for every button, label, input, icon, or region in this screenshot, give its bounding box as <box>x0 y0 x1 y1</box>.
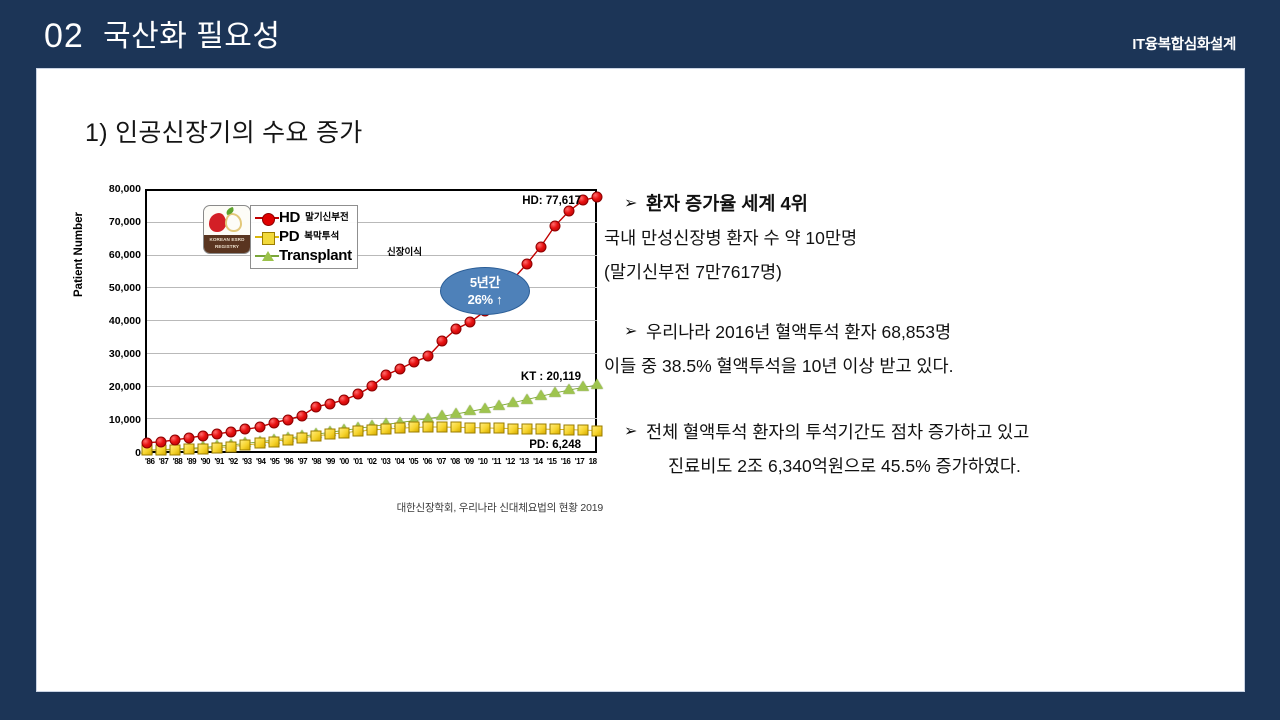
x-tick-label: '16 <box>561 457 571 471</box>
pd-marker <box>296 432 307 443</box>
pd-marker <box>212 442 223 453</box>
y-tick-label: 0 <box>85 447 141 459</box>
chart-source-caption: 대한신장학회, 우리나라 신대체요법의 현황 2019 <box>397 500 603 515</box>
pd-marker <box>479 422 490 433</box>
slide-body-panel: 1) 인공신장기의 수요 증가 Patient Number 80,000 70… <box>36 68 1245 692</box>
x-tick-label: '86 <box>145 457 155 471</box>
hd-marker <box>437 336 448 347</box>
y-tick-label: 60,000 <box>85 249 141 261</box>
bullet-subline-2-1: 이들 중 38.5% 혈액투석을 10년 이상 받고 있다. <box>602 349 1222 383</box>
y-tick-label: 50,000 <box>85 282 141 294</box>
hd-marker <box>521 258 532 269</box>
pd-marker <box>409 422 420 433</box>
x-tick-label: '90 <box>201 457 211 471</box>
x-tick-label: '14 <box>533 457 543 471</box>
bullet-headline-text-3: 전체 혈액투석 환자의 투석기간도 점차 증가하고 있고 <box>646 415 1029 449</box>
x-tick-label: '98 <box>312 457 322 471</box>
bullet-group-3: ➢ 전체 혈액투석 환자의 투석기간도 점차 증가하고 있고 진료비도 2조 6… <box>602 415 1222 483</box>
transplant-marker <box>493 400 505 410</box>
hd-marker <box>142 437 153 448</box>
x-tick-label: '95 <box>270 457 280 471</box>
korean-esrd-registry-logo: KOREAN ESRD REGISTRY <box>203 205 251 254</box>
pd-marker <box>395 423 406 434</box>
pd-marker <box>198 443 209 454</box>
transplant-marker <box>436 410 448 420</box>
legend-label-hd-ko: 말기신부전 <box>305 209 349 223</box>
kt-end-label: KT : 20,119 <box>521 371 581 383</box>
hd-marker <box>296 410 307 421</box>
hd-marker <box>338 394 349 405</box>
legend-item-transplant: Transplant <box>255 246 352 265</box>
legend-label-transplant-ko: 신장이식 <box>387 244 422 258</box>
legend-item-hd: HD 말기신부전 <box>255 208 352 227</box>
pd-marker <box>521 423 532 434</box>
growth-callout-line2: 26% ↑ <box>441 291 529 308</box>
pd-marker <box>310 430 321 441</box>
pd-marker <box>226 441 237 452</box>
legend-item-pd: PD 복막투석 <box>255 227 352 246</box>
bullet-subline-1-1: 국내 만성신장병 환자 수 약 10만명 <box>602 221 1222 255</box>
transplant-marker <box>591 379 603 389</box>
x-tick-label: '87 <box>159 457 169 471</box>
legend-marker-circle-icon <box>255 211 279 225</box>
hd-marker <box>549 221 560 232</box>
hd-end-label: HD: 77,617 <box>522 195 581 207</box>
legend-marker-square-icon <box>255 230 279 244</box>
legend-marker-triangle-icon <box>255 249 279 263</box>
hd-marker <box>395 363 406 374</box>
hd-marker <box>156 436 167 447</box>
transplant-marker <box>521 393 533 403</box>
legend-label-pd-ko: 복막투석 <box>304 228 339 242</box>
chart-y-axis-ticks: 80,000 70,000 60,000 50,000 40,000 30,00… <box>83 189 141 453</box>
pd-marker <box>549 424 560 435</box>
esrd-patient-number-chart: Patient Number 80,000 70,000 60,000 50,0… <box>79 179 609 489</box>
transplant-marker <box>535 390 547 400</box>
x-tick-label: '93 <box>242 457 252 471</box>
transplant-marker <box>507 397 519 407</box>
hd-marker <box>282 414 293 425</box>
x-tick-label: '05 <box>409 457 419 471</box>
bullet-headline-text-2: 우리나라 2016년 혈액투석 환자 68,853명 <box>646 315 951 349</box>
x-tick-label: '92 <box>228 457 238 471</box>
x-tick-label: '11 <box>492 457 501 471</box>
hd-marker <box>352 389 363 400</box>
pd-marker <box>338 427 349 438</box>
bullet-headline-text-1: 환자 증가율 세계 4위 <box>646 187 808 221</box>
bullet-headline-2: ➢ 우리나라 2016년 혈액투석 환자 68,853명 <box>602 315 1222 349</box>
chart-container: Patient Number 80,000 70,000 60,000 50,0… <box>79 179 609 519</box>
pd-marker <box>423 421 434 432</box>
y-tick-label: 80,000 <box>85 183 141 195</box>
x-tick-label: '96 <box>284 457 294 471</box>
header-course-label: IT융복합심화설계 <box>1132 36 1236 54</box>
hd-marker <box>563 206 574 217</box>
logo-caption: KOREAN ESRD REGISTRY <box>204 235 250 253</box>
pd-marker <box>254 438 265 449</box>
x-tick-label: '03 <box>381 457 391 471</box>
slide-root: 02 국산화 필요성 IT융복합심화설계 1) 인공신장기의 수요 증가 Pat… <box>0 0 1280 720</box>
pd-marker <box>451 422 462 433</box>
hd-marker <box>451 323 462 334</box>
hd-marker <box>409 356 420 367</box>
x-tick-label: '09 <box>464 457 474 471</box>
x-tick-label: '97 <box>298 457 308 471</box>
chart-x-axis-ticks: '86'87'88'89'90'91'92'93'94'95'96'97'98'… <box>145 457 597 471</box>
pd-marker <box>465 422 476 433</box>
x-tick-label: '99 <box>325 457 335 471</box>
legend-label-pd: PD <box>279 229 299 244</box>
arrow-bullet-icon: ➢ <box>602 415 646 449</box>
header-title: 국산화 필요성 <box>103 18 280 56</box>
hd-marker <box>268 417 279 428</box>
pd-marker <box>170 444 181 455</box>
pd-marker <box>352 426 363 437</box>
transplant-marker <box>479 403 491 413</box>
y-tick-label: 30,000 <box>85 348 141 360</box>
transplant-marker <box>464 405 476 415</box>
x-tick-label: '08 <box>450 457 460 471</box>
growth-callout: 5년간 26% ↑ <box>440 267 530 315</box>
x-tick-label: '15 <box>547 457 557 471</box>
transplant-marker <box>549 387 561 397</box>
y-tick-label: 20,000 <box>85 381 141 393</box>
page-title: 1) 인공신장기의 수요 증가 <box>85 113 363 149</box>
transplant-marker <box>450 408 462 418</box>
logo-caption-line2: REGISTRY <box>204 243 250 250</box>
hd-marker <box>212 428 223 439</box>
x-tick-label: '88 <box>173 457 183 471</box>
slide-header: 02 국산화 필요성 IT융복합심화설계 <box>0 0 1280 68</box>
hd-marker <box>310 401 321 412</box>
pd-marker <box>184 444 195 455</box>
hd-marker <box>198 430 209 441</box>
pd-marker <box>507 423 518 434</box>
pd-marker <box>592 425 603 436</box>
bullet-headline-3: ➢ 전체 혈액투석 환자의 투석기간도 점차 증가하고 있고 <box>602 415 1222 449</box>
pd-marker <box>282 434 293 445</box>
x-tick-label: '00 <box>339 457 349 471</box>
kidney-outline-icon <box>225 213 242 232</box>
header-section-number: 02 <box>44 17 84 55</box>
x-tick-label: '91 <box>214 457 224 471</box>
y-tick-label: 40,000 <box>85 315 141 327</box>
kidney-red-icon <box>209 213 226 232</box>
pd-marker <box>563 424 574 435</box>
content-text-column: ➢ 환자 증가율 세계 4위 국내 만성신장병 환자 수 약 10만명 (말기신… <box>602 187 1222 501</box>
pd-end-label: PD: 6,248 <box>529 439 581 451</box>
hd-marker <box>240 424 251 435</box>
pd-marker <box>268 436 279 447</box>
x-tick-label: 18 <box>589 457 597 471</box>
pd-marker <box>437 422 448 433</box>
hd-marker <box>367 381 378 392</box>
pd-marker <box>577 425 588 436</box>
x-tick-label: '13 <box>519 457 529 471</box>
bullet-subline-3-1: 진료비도 2조 6,340억원으로 45.5% 증가하였다. <box>602 449 1222 483</box>
bullet-group-2: ➢ 우리나라 2016년 혈액투석 환자 68,853명 이들 중 38.5% … <box>602 315 1222 383</box>
bullet-headline-1: ➢ 환자 증가율 세계 4위 <box>602 187 1222 221</box>
hd-marker <box>592 191 603 202</box>
bullet-subline-1-2: (말기신부전 7만7617명) <box>602 255 1222 289</box>
hd-marker <box>465 316 476 327</box>
x-tick-label: '89 <box>187 457 197 471</box>
hd-marker <box>226 426 237 437</box>
pd-marker <box>367 425 378 436</box>
hd-marker <box>423 351 434 362</box>
arrow-bullet-icon: ➢ <box>602 187 646 221</box>
pd-marker <box>493 423 504 434</box>
x-tick-label: '94 <box>256 457 266 471</box>
hd-marker <box>184 432 195 443</box>
x-tick-label: '04 <box>395 457 405 471</box>
x-tick-label: '02 <box>367 457 377 471</box>
y-tick-label: 10,000 <box>85 414 141 426</box>
x-tick-label: '12 <box>505 457 515 471</box>
arrow-bullet-icon: ➢ <box>602 315 646 349</box>
chart-plot-area: KOREAN ESRD REGISTRY HD 말기신부전 <box>145 189 597 453</box>
pd-marker <box>324 429 335 440</box>
hd-marker <box>324 398 335 409</box>
hd-marker <box>170 434 181 445</box>
x-tick-label: '17 <box>575 457 585 471</box>
x-tick-label: '06 <box>423 457 433 471</box>
chart-legend: HD 말기신부전 PD 복막투석 Transplant <box>250 205 358 269</box>
hd-marker <box>254 422 265 433</box>
pd-marker <box>240 440 251 451</box>
x-tick-label: '07 <box>436 457 446 471</box>
growth-callout-line1: 5년간 <box>441 274 529 291</box>
x-tick-label: '01 <box>353 457 363 471</box>
pd-marker <box>535 424 546 435</box>
y-tick-label: 70,000 <box>85 216 141 228</box>
bullet-group-1: ➢ 환자 증가율 세계 4위 국내 만성신장병 환자 수 약 10만명 (말기신… <box>602 187 1222 289</box>
transplant-marker <box>563 384 575 394</box>
legend-label-transplant: Transplant <box>279 248 352 263</box>
pd-marker <box>381 424 392 435</box>
legend-label-hd: HD <box>279 210 300 225</box>
hd-marker <box>381 370 392 381</box>
hd-marker <box>535 241 546 252</box>
x-tick-label: '10 <box>478 457 488 471</box>
logo-caption-line1: KOREAN ESRD <box>204 236 250 243</box>
